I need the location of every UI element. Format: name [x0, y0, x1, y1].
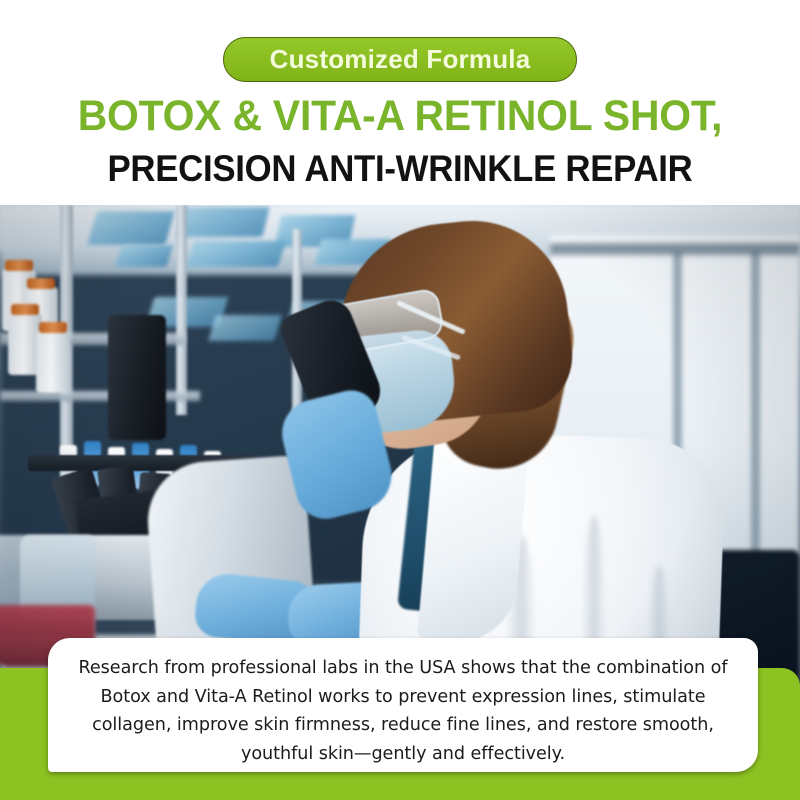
caption-card: Research from professional labs in the U… [48, 638, 758, 772]
headline-title: BOTOX & VITA-A RETINOL SHOT, [20, 92, 780, 140]
poster-root: Customized Formula BOTOX & VITA-A RETINO… [0, 0, 800, 800]
reagent-bottle [36, 331, 70, 393]
microscope-illuminator [108, 315, 166, 440]
ceiling-panel [186, 241, 286, 267]
subheadline-title: PRECISION ANTI-WRINKLE REPAIR [24, 147, 776, 191]
ceiling-panel [114, 245, 173, 267]
header-section: Customized Formula BOTOX & VITA-A RETINO… [0, 0, 800, 205]
customized-formula-badge: Customized Formula [223, 37, 578, 82]
ceiling-panel [87, 211, 175, 245]
badge-container: Customized Formula [0, 37, 800, 82]
ceiling-panel [176, 207, 269, 237]
shelf-board [0, 391, 200, 401]
shelf-upright [176, 205, 187, 415]
caption-text: Research from professional labs in the U… [70, 654, 736, 768]
ceiling-panel [208, 315, 281, 341]
